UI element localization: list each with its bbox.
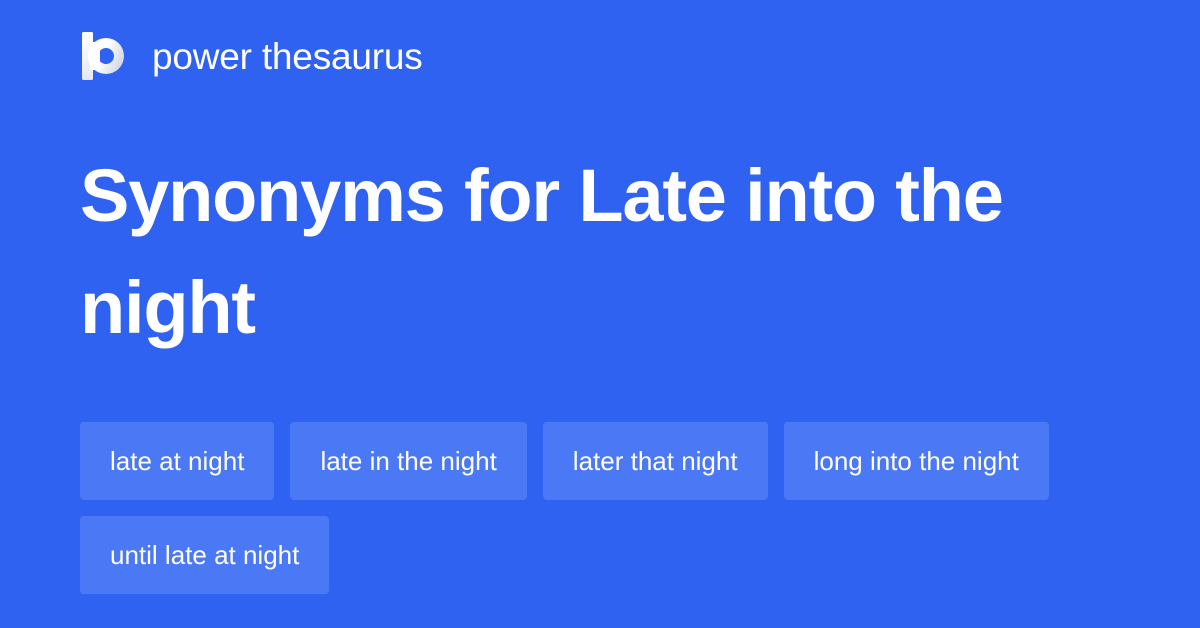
synonym-chip-list: late at night late in the night later th… <box>80 422 1130 594</box>
synonym-chip[interactable]: later that night <box>543 422 768 500</box>
synonym-chip[interactable]: long into the night <box>784 422 1049 500</box>
brand-name: power thesaurus <box>152 38 423 75</box>
power-thesaurus-b-logo-icon <box>80 30 132 82</box>
page-title: Synonyms for Late into the night <box>80 140 1080 364</box>
brand-logo-row[interactable]: power thesaurus <box>80 28 423 84</box>
synonym-chip[interactable]: late in the night <box>290 422 526 500</box>
share-card: power thesaurus Synonyms for Late into t… <box>0 0 1200 628</box>
synonym-chip[interactable]: late at night <box>80 422 274 500</box>
synonym-chip[interactable]: until late at night <box>80 516 329 594</box>
